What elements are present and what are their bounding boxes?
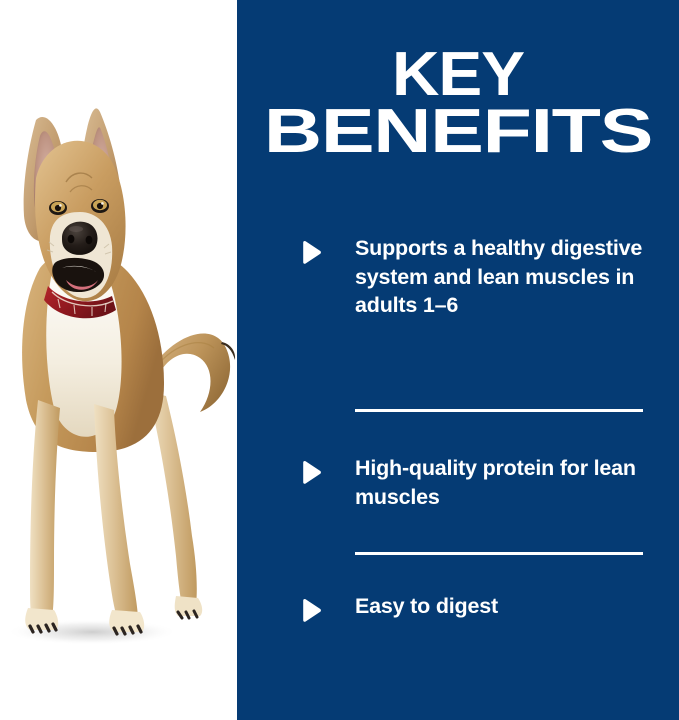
benefit-text-3: Easy to digest xyxy=(355,592,660,621)
benefits-panel: KEY BENEFITS Supports a healthy digestiv… xyxy=(237,0,679,720)
benefit-divider-1 xyxy=(355,409,643,412)
key-benefits-panel-image: KEY BENEFITS Supports a healthy digestiv… xyxy=(0,0,679,720)
benefit-text-1: Supports a healthy digestive system and … xyxy=(355,234,660,320)
benefit-divider-2 xyxy=(355,552,643,555)
page-title: KEY BENEFITS xyxy=(237,46,679,160)
play-triangle-icon xyxy=(300,461,322,484)
benefit-text-2: High-quality protein for lean muscles xyxy=(355,454,660,511)
play-triangle-icon xyxy=(300,599,322,622)
title-line-benefits: BENEFITS xyxy=(171,103,679,160)
title-line-key: KEY xyxy=(224,46,679,103)
play-triangle-icon xyxy=(300,241,322,264)
benefit-item-3: Easy to digest xyxy=(300,592,660,622)
benefit-item-2: High-quality protein for lean muscles xyxy=(300,454,660,511)
benefit-item-1: Supports a healthy digestive system and … xyxy=(300,234,660,320)
